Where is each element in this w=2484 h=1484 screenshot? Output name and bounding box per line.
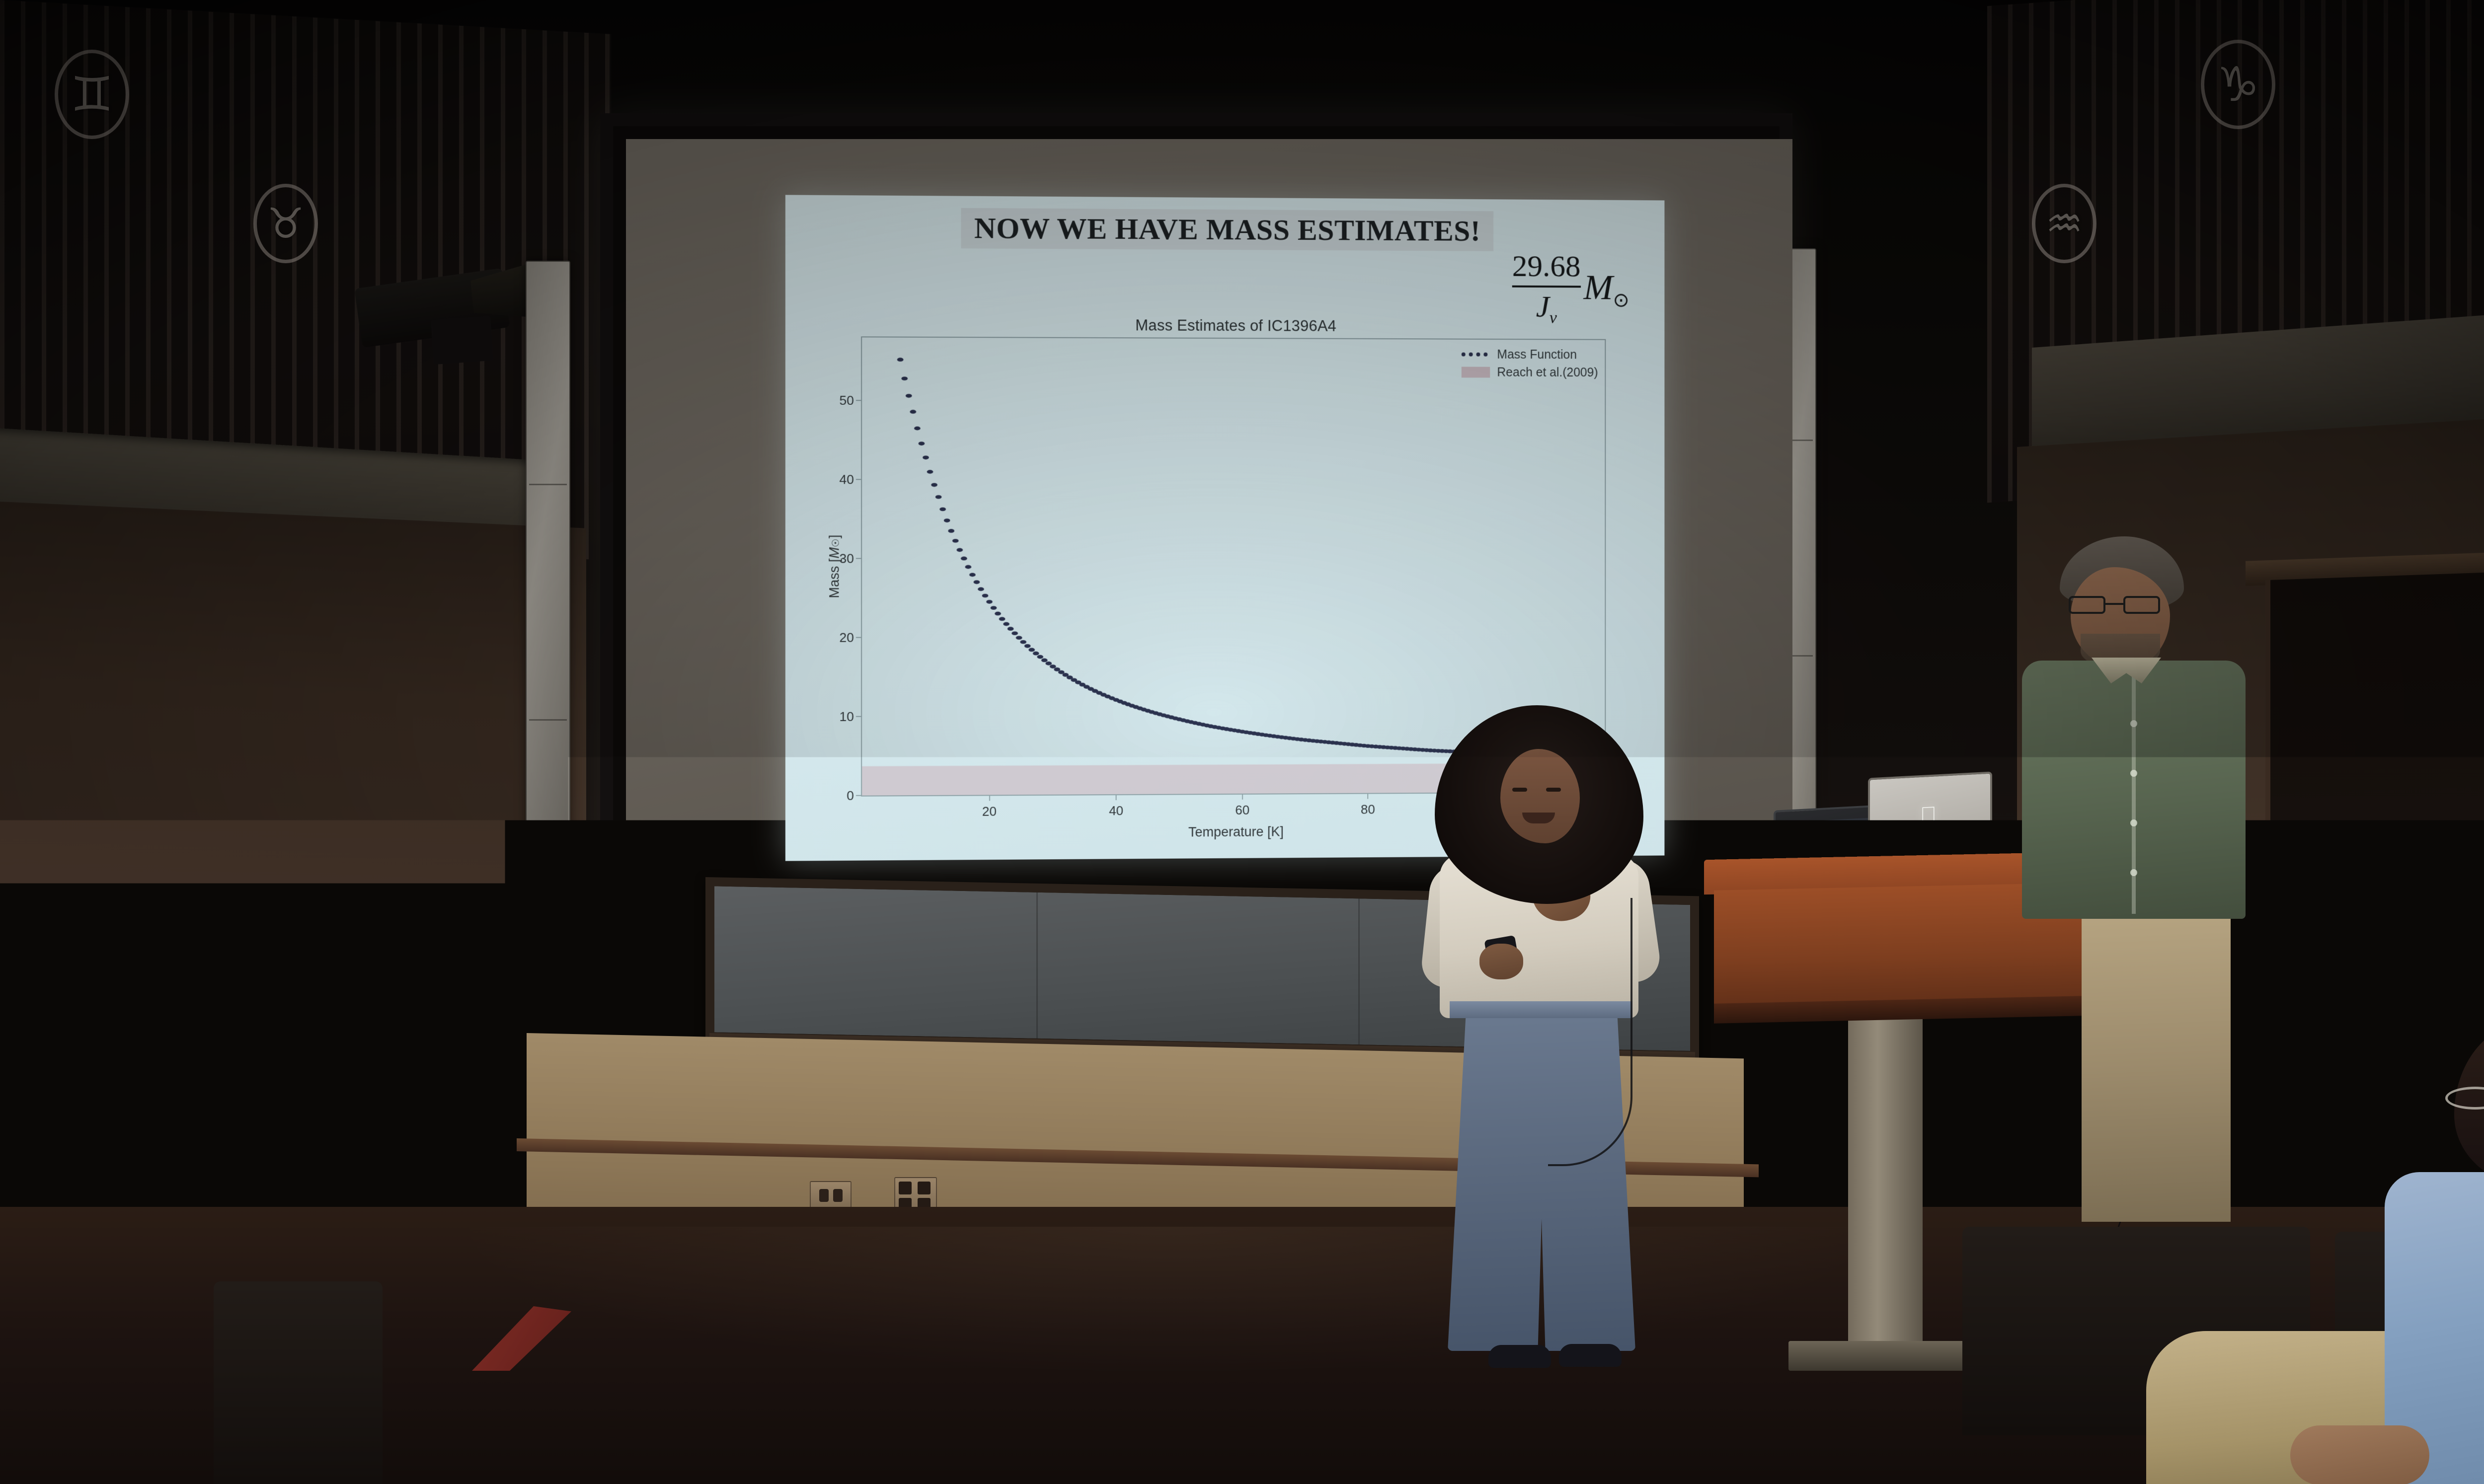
band-swatch-icon (1462, 367, 1490, 378)
mass-function-point (969, 573, 976, 577)
mass-function-point (1037, 655, 1043, 659)
outlet-socket (819, 1189, 829, 1202)
legend-label-mass-function: Mass Function (1497, 346, 1577, 364)
x-tick-label: 20 (982, 804, 997, 819)
x-tick (1367, 793, 1368, 799)
data-jack (899, 1182, 912, 1194)
mass-function-point (897, 358, 904, 362)
presenter-hand-holding-clicker (1479, 944, 1523, 979)
shirt-button (2130, 720, 2137, 727)
mass-function-point (919, 442, 925, 445)
mass-formula: 29.68 Jν M⊙ (1512, 251, 1630, 327)
dotted-line-icon (1462, 353, 1490, 357)
mass-function-point (910, 410, 916, 414)
formula-unit: M⊙ (1583, 267, 1629, 311)
column-speaker-left (526, 261, 570, 956)
audience-right-hands (2290, 1425, 2429, 1484)
presenter (1426, 705, 1659, 1401)
y-tick (856, 479, 862, 480)
mass-function-point (1024, 644, 1031, 648)
mass-function-point (995, 612, 1001, 616)
mass-function-point (935, 495, 942, 499)
apple-logo-icon:  (1920, 804, 1940, 826)
presenter-eye-right (1546, 788, 1561, 792)
podium-man-trousers (2082, 904, 2231, 1222)
man-at-podium (2017, 536, 2251, 1222)
glasses-icon (2445, 1087, 2484, 1110)
x-tick-label: 80 (1361, 802, 1375, 817)
mass-function-point (956, 548, 963, 552)
y-tick (856, 558, 862, 559)
mass-function-point (961, 557, 967, 561)
mass-function-point (982, 594, 989, 597)
chart-title: Mass Estimates of IC1396A4 (861, 315, 1606, 336)
slide-title: NOW WE HAVE MASS ESTIMATES! (961, 208, 1493, 251)
spotlight-yoke (431, 316, 493, 365)
glasses-icon (2069, 596, 2168, 614)
y-tick-label: 40 (840, 472, 854, 487)
mass-function-point (952, 539, 959, 543)
mass-function-point (1041, 658, 1048, 662)
mass-function-point (927, 470, 933, 474)
x-tick-label: 40 (1109, 803, 1123, 818)
chart-y-axis-label: Mass [M☉] (827, 535, 842, 598)
mass-function-point (1016, 636, 1022, 640)
mass-function-point (1011, 631, 1018, 635)
shirt-button (2130, 819, 2137, 826)
mass-function-point (906, 394, 912, 398)
mass-function-point (939, 507, 946, 511)
chart-legend: Mass Function Reach et al.(2009) (1462, 346, 1598, 382)
slide-title-container: NOW WE HAVE MASS ESTIMATES! (785, 207, 1665, 252)
audience-member-left (0, 959, 358, 1484)
mass-function-point (931, 483, 937, 487)
y-tick (856, 637, 862, 638)
medallion-aquarius-icon: ♒ (2032, 184, 2096, 263)
speaker-seam (529, 719, 567, 721)
mass-function-point (1028, 648, 1035, 652)
mass-function-point (991, 606, 997, 610)
y-tick-label: 20 (840, 630, 854, 645)
audience-left-hair (0, 959, 169, 1266)
mass-function-point (1033, 652, 1039, 656)
mass-function-point (999, 617, 1006, 621)
hair-tie-icon (90, 986, 108, 1001)
mass-function-point (1003, 622, 1009, 626)
x-tick-label: 60 (1235, 803, 1249, 818)
y-tick (856, 400, 862, 401)
y-tick-label: 50 (840, 393, 854, 408)
floor-reflection (447, 1227, 1888, 1376)
medallion-taurus-icon: ♉ (253, 184, 318, 263)
audience-member-right (2221, 1023, 2484, 1484)
mass-function-series (897, 358, 1589, 762)
podium-man-shirt (2022, 661, 2246, 919)
legend-entry-reach: Reach et al.(2009) (1462, 364, 1598, 382)
presenter-face (1500, 749, 1580, 843)
shirt-button (2130, 770, 2137, 777)
chart-x-axis-label: Temperature [K] (1188, 824, 1284, 840)
medallion-capricorn-icon: ♑ (2201, 40, 2275, 129)
x-tick (1242, 794, 1243, 800)
power-outlet[interactable] (810, 1181, 852, 1210)
mass-function-point (1050, 665, 1056, 668)
formula-fraction: 29.68 Jν (1512, 251, 1581, 327)
mass-function-point (948, 529, 954, 533)
shirt-button (2130, 869, 2137, 876)
board-panel-divider (1358, 898, 1360, 1044)
mass-function-point (1020, 640, 1026, 644)
podium-column (1848, 1013, 1923, 1361)
legend-label-reach: Reach et al.(2009) (1497, 364, 1598, 382)
legend-entry-mass-function: Mass Function (1462, 346, 1598, 364)
presenter-mouth (1522, 813, 1555, 823)
mass-function-point (1008, 627, 1014, 631)
mass-function-point (965, 565, 972, 569)
data-jack (918, 1182, 931, 1194)
mass-function-point (923, 455, 929, 459)
mass-function-point (1045, 662, 1052, 666)
board-panel-divider (1036, 892, 1038, 1039)
formula-numerator: 29.68 (1512, 251, 1581, 282)
y-tick (856, 795, 862, 796)
lecture-hall-scene: ♊ ♉ ♒ ♑ NOW WE HAVE MASS ESTIMATES! (0, 0, 2484, 1484)
y-tick (856, 716, 862, 717)
y-tick-label: 10 (840, 709, 854, 724)
y-tick-label: 0 (847, 788, 854, 803)
mass-function-point (978, 587, 984, 591)
shirt-placket (2132, 673, 2136, 914)
mass-function-point (974, 580, 980, 584)
x-tick (1116, 794, 1117, 800)
presenter-shoe-right (1559, 1344, 1622, 1367)
mass-function-point (901, 376, 908, 380)
x-tick (989, 795, 990, 801)
medallion-gemini-icon: ♊ (55, 50, 129, 139)
mass-function-point (986, 600, 993, 604)
mass-function-point (944, 519, 950, 522)
presenter-eye-left (1512, 788, 1527, 792)
mass-function-point (914, 427, 921, 431)
outlet-socket (833, 1189, 843, 1202)
formula-fraction-bar (1512, 286, 1581, 288)
speaker-seam (529, 484, 567, 485)
microphone-cable (1548, 898, 1632, 1166)
presenter-shoe-left (1488, 1345, 1551, 1368)
macbook-laptop[interactable]:  (1868, 771, 1992, 865)
